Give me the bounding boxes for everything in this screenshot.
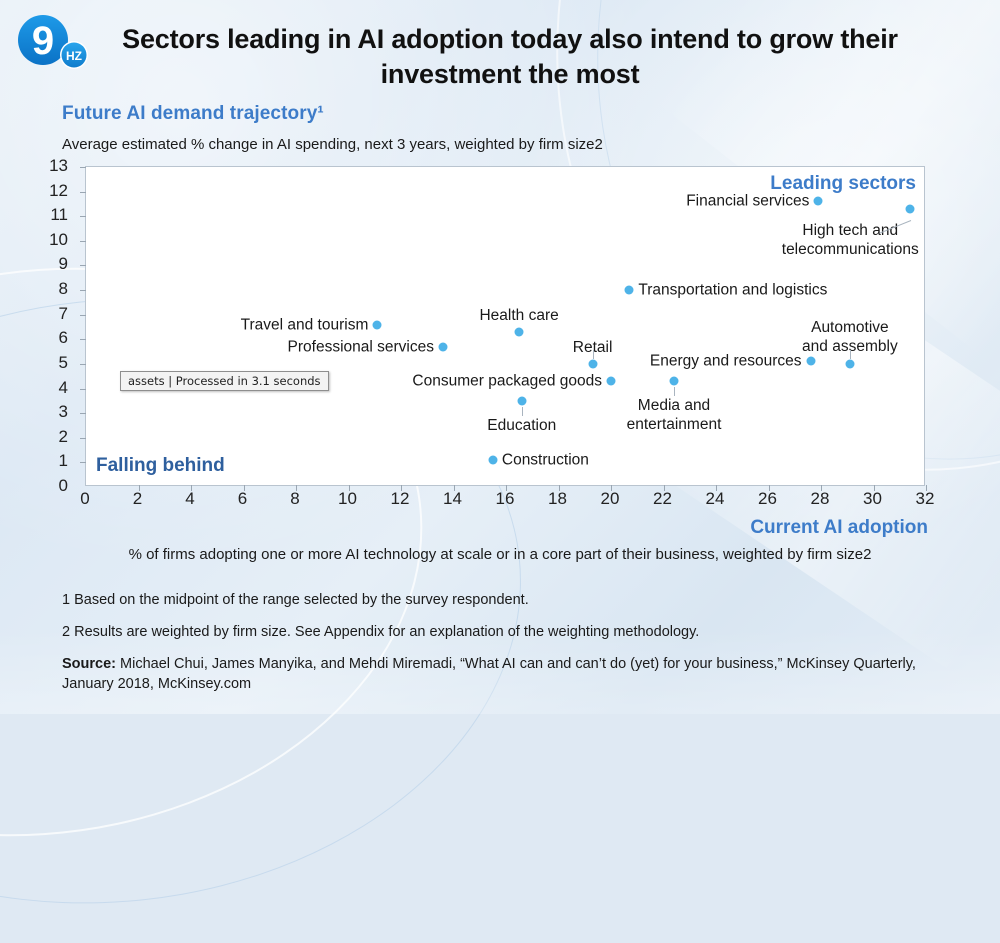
data-point[interactable] (906, 204, 915, 213)
brand-logo: 9 HZ (16, 14, 102, 70)
data-point[interactable] (488, 455, 497, 464)
y-tick-label: 2 (59, 427, 68, 447)
y-tick-label: 9 (59, 254, 68, 274)
data-point-label: Construction (502, 450, 589, 469)
data-point-label: Health care (479, 306, 558, 325)
y-tick-label: 8 (59, 279, 68, 299)
data-point-label: Energy and resources (650, 352, 802, 371)
x-tick-label: 8 (290, 489, 299, 509)
y-tick-mark (80, 167, 86, 168)
label-leader-line (674, 387, 675, 396)
x-tick-label: 6 (238, 489, 247, 509)
svg-text:HZ: HZ (66, 49, 82, 63)
footnotes-block: 1 Based on the midpoint of the range sel… (62, 590, 970, 694)
y-tick-mark (80, 192, 86, 193)
logo-9hz-icon: 9 HZ (16, 14, 102, 70)
y-tick-label: 4 (59, 378, 68, 398)
label-leader-line (850, 350, 851, 359)
data-point[interactable] (670, 377, 679, 386)
y-tick-mark (80, 290, 86, 291)
x-tick-label: 14 (443, 489, 462, 509)
y-tick-label: 12 (49, 181, 68, 201)
data-point[interactable] (814, 197, 823, 206)
data-point-label: Transportation and logistics (638, 281, 827, 300)
y-tick-label: 6 (59, 328, 68, 348)
y-tick-label: 10 (49, 230, 68, 250)
x-tick-label: 10 (338, 489, 357, 509)
y-tick-mark (80, 413, 86, 414)
quadrant-label-falling: Falling behind (96, 455, 225, 477)
y-tick-mark (80, 364, 86, 365)
x-tick-label: 20 (601, 489, 620, 509)
y-tick-mark (80, 265, 86, 266)
y-tick-label: 7 (59, 304, 68, 324)
data-point[interactable] (373, 320, 382, 329)
scatter-chart: Leading sectors Falling behind High tech… (0, 0, 1000, 520)
x-tick-label: 22 (653, 489, 672, 509)
label-leader-line (522, 407, 523, 416)
data-point-label: Consumer packaged goods (412, 372, 602, 391)
x-tick-label: 18 (548, 489, 567, 509)
x-axis-title: Current AI adoption (750, 517, 928, 539)
y-tick-mark (80, 315, 86, 316)
data-point[interactable] (517, 396, 526, 405)
y-tick-mark (80, 438, 86, 439)
footnote-2: 2 Results are weighted by firm size. See… (62, 622, 970, 642)
data-point[interactable] (515, 327, 524, 336)
x-tick-label: 26 (758, 489, 777, 509)
svg-text:9: 9 (32, 19, 54, 63)
label-leader-line (593, 350, 594, 359)
x-tick-label: 28 (811, 489, 830, 509)
data-point[interactable] (607, 377, 616, 386)
source-line: Source: Michael Chui, James Manyika, and… (62, 654, 970, 694)
y-tick-mark (80, 241, 86, 242)
data-point[interactable] (625, 286, 634, 295)
source-label: Source: (62, 656, 116, 672)
data-point[interactable] (845, 359, 854, 368)
plot-area: Leading sectors Falling behind High tech… (85, 166, 925, 486)
y-tick-label: 11 (50, 205, 68, 225)
x-tick-label: 16 (496, 489, 515, 509)
footnote-1: 1 Based on the midpoint of the range sel… (62, 590, 970, 610)
x-tick-label: 2 (133, 489, 142, 509)
data-point[interactable] (806, 357, 815, 366)
data-point[interactable] (439, 342, 448, 351)
x-tick-label: 0 (80, 489, 89, 509)
y-tick-mark (80, 462, 86, 463)
x-axis-caption: % of firms adopting one or more AI techn… (0, 546, 1000, 563)
data-point-label: Financial services (686, 192, 809, 211)
data-point-label: Media andentertainment (627, 396, 722, 434)
x-tick-label: 30 (863, 489, 882, 509)
y-tick-label: 1 (59, 451, 68, 471)
data-point[interactable] (588, 359, 597, 368)
y-tick-label: 0 (59, 476, 68, 496)
processing-tooltip: assets | Processed in 3.1 seconds (120, 371, 329, 391)
x-tick-label: 12 (391, 489, 410, 509)
data-point-label: Education (487, 416, 556, 435)
data-point-label: High tech andtelecommunications (782, 221, 919, 259)
y-tick-label: 3 (59, 402, 68, 422)
y-tick-mark (80, 216, 86, 217)
x-tick-label: 24 (706, 489, 725, 509)
data-point-label: Professional services (288, 337, 434, 356)
y-tick-mark (80, 389, 86, 390)
y-tick-mark (80, 339, 86, 340)
x-tick-label: 4 (185, 489, 194, 509)
data-point-label: Travel and tourism (241, 315, 369, 334)
x-tick-label: 32 (916, 489, 935, 509)
source-text: Michael Chui, James Manyika, and Mehdi M… (62, 656, 916, 692)
y-tick-label: 13 (49, 156, 68, 176)
y-tick-label: 5 (59, 353, 68, 373)
